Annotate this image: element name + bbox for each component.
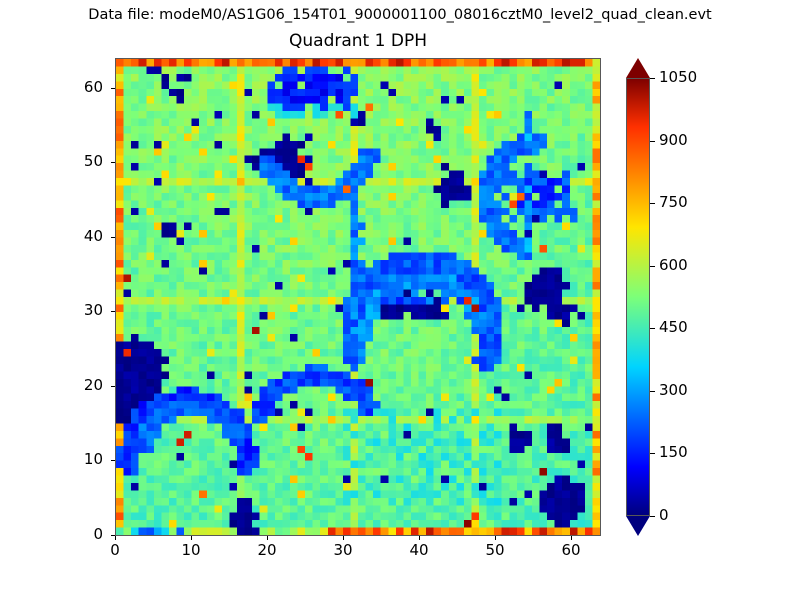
colorbar-tick-label: 300: [659, 382, 688, 399]
page-title: Quadrant 1 DPH: [115, 31, 601, 52]
y-tick-label: 50: [63, 153, 103, 170]
x-tick-label: 60: [551, 542, 591, 559]
y-tick-label: 60: [63, 79, 103, 96]
colorbar-tick-label: 0: [659, 507, 669, 524]
y-tick-label: 20: [63, 377, 103, 394]
colorbar-tick-mark: [650, 78, 655, 79]
colorbar-tick-label: 900: [659, 132, 688, 149]
x-tick-label: 0: [95, 542, 135, 559]
colorbar-tick-mark: [650, 391, 655, 392]
x-tick-label: 20: [247, 542, 287, 559]
colorbar-tick-mark: [650, 328, 655, 329]
x-tick-mark: [419, 536, 420, 540]
x-tick-label: 50: [475, 542, 515, 559]
colorbar-tick-label: 1050: [659, 69, 697, 86]
y-tick-mark: [111, 237, 115, 238]
colorbar-tick-mark: [650, 141, 655, 142]
colorbar-extend-min-arrow: [626, 516, 650, 536]
x-tick-mark: [115, 536, 116, 540]
y-tick-label: 0: [63, 526, 103, 543]
heatmap-axes[interactable]: [115, 58, 601, 536]
datafile-label: Data file: modeM0/AS1G06_154T01_90000011…: [0, 6, 800, 24]
x-tick-mark: [571, 536, 572, 540]
colorbar-gradient: [626, 78, 650, 516]
y-tick-label: 40: [63, 228, 103, 245]
y-tick-mark: [111, 386, 115, 387]
y-tick-mark: [111, 162, 115, 163]
colorbar-tick-mark: [650, 453, 655, 454]
x-tick-mark: [267, 536, 268, 540]
colorbar-tick-label: 600: [659, 257, 688, 274]
x-tick-label: 30: [323, 542, 363, 559]
y-tick-mark: [111, 88, 115, 89]
x-tick-mark: [191, 536, 192, 540]
colorbar-tick-label: 750: [659, 194, 688, 211]
heatmap-image[interactable]: [116, 59, 600, 535]
y-tick-mark: [111, 460, 115, 461]
colorbar-tick-label: 150: [659, 444, 688, 461]
x-tick-label: 10: [171, 542, 211, 559]
colorbar-tick-label: 450: [659, 319, 688, 336]
x-tick-mark: [495, 536, 496, 540]
y-tick-label: 30: [63, 302, 103, 319]
colorbar-tick-mark: [650, 516, 655, 517]
y-tick-label: 10: [63, 451, 103, 468]
colorbar-axes[interactable]: [626, 78, 650, 516]
colorbar-tick-mark: [650, 266, 655, 267]
x-tick-mark: [343, 536, 344, 540]
y-tick-mark: [111, 535, 115, 536]
colorbar-extend-max-arrow: [626, 58, 650, 78]
x-tick-label: 40: [399, 542, 439, 559]
y-tick-mark: [111, 311, 115, 312]
colorbar-tick-mark: [650, 203, 655, 204]
figure-canvas: Data file: modeM0/AS1G06_154T01_90000011…: [0, 0, 800, 600]
